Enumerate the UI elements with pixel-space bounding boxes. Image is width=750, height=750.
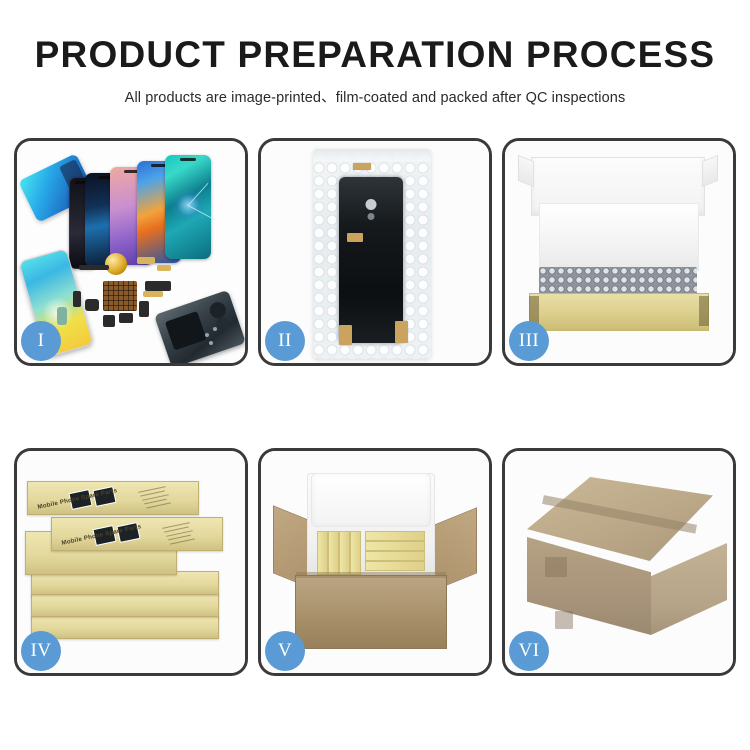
page-subtitle: All products are image-printed、film-coat…: [0, 86, 750, 107]
stacked-box-1: Mobile Phone Spare Parts: [27, 481, 199, 515]
stacked-box-5: [31, 593, 219, 617]
part-icon-g: [145, 281, 171, 291]
step-badge-4: IV: [21, 631, 61, 671]
page-header: PRODUCT PREPARATION PROCESS All products…: [0, 0, 750, 107]
connector-array-icon: [103, 281, 137, 311]
yellow-boxes-group: [317, 529, 425, 575]
bubble-wrap-bag: [313, 149, 431, 359]
step-badge-3: III: [509, 321, 549, 361]
tape-icon-c: [339, 325, 352, 345]
carton-tape-upper: [545, 557, 567, 577]
kraft-box-base-icon: [529, 293, 709, 331]
step-card-2: II: [258, 138, 492, 366]
carton-right-face: [651, 543, 727, 635]
process-steps-grid: I II: [14, 138, 736, 676]
tape-icon-b: [347, 233, 363, 242]
part-icon-c: [85, 299, 99, 311]
step-card-6: VI: [502, 448, 736, 676]
bag-seal: [313, 149, 431, 161]
part-icon-f: [139, 301, 149, 317]
step-badge-2: II: [265, 321, 305, 361]
part-icon-a: [79, 265, 109, 270]
stacked-box-6: [31, 615, 219, 639]
tape-icon-a: [353, 163, 371, 170]
camera-cutout-icon: [366, 199, 377, 210]
part-icon-d: [103, 315, 115, 327]
speaker-part-icon: [105, 253, 127, 275]
box-stack: Mobile Phone Spare Parts Mobile Phone Sp…: [23, 469, 237, 661]
step-badge-5: V: [265, 631, 305, 671]
stacked-box-2: Mobile Phone Spare Parts: [51, 517, 223, 551]
carton-front-panel: [295, 575, 447, 649]
step-card-4: Mobile Phone Spare Parts Mobile Phone Sp…: [14, 448, 248, 676]
part-icon-h: [57, 307, 67, 325]
wrapped-screen-icon: [339, 177, 403, 343]
part-icon-e: [119, 313, 133, 323]
step-card-3: III: [502, 138, 736, 366]
part-icon-b: [73, 291, 81, 307]
step-badge-6: VI: [509, 631, 549, 671]
step-badge-1: I: [21, 321, 61, 361]
tape-icon-d: [395, 321, 408, 343]
flex-cable-icon-a: [137, 257, 155, 264]
step-card-1: I: [14, 138, 248, 366]
foam-sheet-icon: [539, 203, 699, 271]
flex-cable-icon-b: [157, 265, 171, 271]
page-title: PRODUCT PREPARATION PROCESS: [0, 36, 750, 75]
flex-cable-icon-c: [143, 291, 163, 297]
carton-tape-lower: [555, 611, 573, 629]
step-card-5: V: [258, 448, 492, 676]
foam-lid-icon: [311, 473, 431, 527]
product-preparation-page: PRODUCT PREPARATION PROCESS All products…: [0, 0, 750, 750]
